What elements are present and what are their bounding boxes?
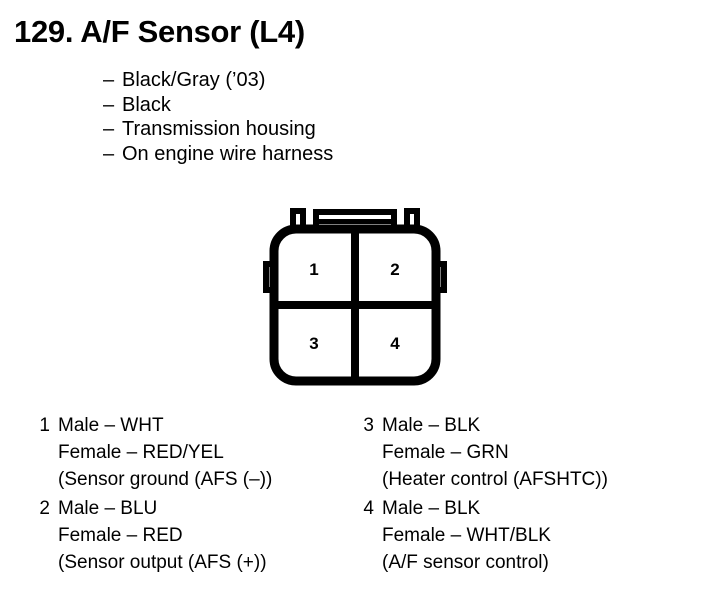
dash-bullet-icon: – [103, 117, 122, 142]
dash-bullet-icon: – [103, 142, 122, 167]
pin-legend-male-wire: Male – BLU [58, 495, 272, 522]
pin-number-2: 2 [390, 260, 399, 279]
spec-item-label: Black [122, 94, 171, 116]
pin-legend-right-column: 3 Male – BLK Female – GRN (Heater contro… [358, 412, 608, 578]
pin-legend-number: 2 [34, 495, 50, 522]
spec-item-label: Transmission housing [122, 118, 316, 140]
pin-legend-left-column: 1 Male – WHT Female – RED/YEL (Sensor gr… [34, 412, 272, 578]
spec-item-connector-color-alt: –Black [103, 93, 333, 118]
dash-bullet-icon: – [103, 68, 122, 93]
pin-number-1: 1 [309, 260, 318, 279]
spec-item-harness: –On engine wire harness [103, 142, 333, 167]
spec-item-label: On engine wire harness [122, 143, 333, 165]
pin-legend-entry-4: 4 Male – BLK Female – WHT/BLK (A/F senso… [358, 495, 608, 576]
pin-legend-male-wire: Male – BLK [382, 495, 608, 522]
spec-item-label: Black/Gray (’03) [122, 69, 265, 91]
pin-legend-number: 3 [358, 412, 374, 439]
spec-item-location: –Transmission housing [103, 117, 333, 142]
pin-legend-female-wire: Female – RED [58, 522, 272, 549]
pin-legend-male-wire: Male – WHT [58, 412, 272, 439]
pin-legend-function: (A/F sensor control) [382, 549, 608, 576]
specification-list: –Black/Gray (’03) –Black –Transmission h… [103, 68, 333, 166]
pin-legend-entry-3: 3 Male – BLK Female – GRN (Heater contro… [358, 412, 608, 493]
pin-legend-entry-1: 1 Male – WHT Female – RED/YEL (Sensor gr… [34, 412, 272, 493]
dash-bullet-icon: – [103, 93, 122, 118]
page-title: 129. A/F Sensor (L4) [14, 14, 305, 50]
pin-legend-female-wire: Female – RED/YEL [58, 439, 272, 466]
pin-divider-horizontal [274, 301, 436, 309]
pin-legend-function: (Sensor output (AFS (+)) [58, 549, 272, 576]
pin-legend-entry-2: 2 Male – BLU Female – RED (Sensor output… [34, 495, 272, 576]
pin-legend-number: 1 [34, 412, 50, 439]
pin-number-3: 3 [309, 334, 318, 353]
pin-legend-male-wire: Male – BLK [382, 412, 608, 439]
pin-number-4: 4 [390, 334, 400, 353]
pin-legend-female-wire: Female – GRN [382, 439, 608, 466]
pin-legend-function: (Heater control (AFSHTC)) [382, 466, 608, 493]
connector-diagram: 1 2 3 4 [255, 203, 455, 389]
spec-item-connector-color: –Black/Gray (’03) [103, 68, 333, 93]
pin-legend-function: (Sensor ground (AFS (–)) [58, 466, 272, 493]
pin-legend-number: 4 [358, 495, 374, 522]
pin-legend-female-wire: Female – WHT/BLK [382, 522, 608, 549]
